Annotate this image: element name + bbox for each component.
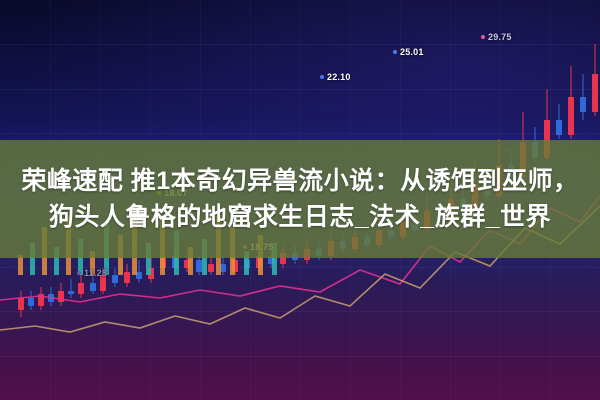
candle-body <box>592 74 598 112</box>
price-label-dot <box>393 50 397 54</box>
candle-body <box>124 272 130 283</box>
candle-body <box>28 298 34 306</box>
candle-body <box>58 291 64 302</box>
price-label-dot <box>320 75 324 79</box>
price-label: 25.01 <box>393 47 424 57</box>
price-label: 22.10 <box>320 72 351 82</box>
candle-body <box>556 120 562 135</box>
title-block: 荣峰速配 推1本奇幻异兽流小说：从诱饵到巫师， 狗头人鲁格的地窟求生日志_法术_… <box>0 140 600 258</box>
title-line-1: 荣峰速配 推1本奇幻异兽流小说：从诱饵到巫师， <box>21 165 578 197</box>
candle-wick <box>71 279 72 298</box>
candle-body <box>48 294 54 302</box>
title-line-2: 狗头人鲁格的地窟求生日志_法术_族群_世界 <box>49 201 551 233</box>
candle-body <box>38 294 44 305</box>
candle-body <box>90 283 96 291</box>
price-label-dot <box>77 271 81 275</box>
candle-body <box>112 275 118 283</box>
price-label: 11.28 <box>77 268 107 278</box>
price-label: 29.75 <box>481 32 512 42</box>
candle-body <box>568 97 574 135</box>
candle-body <box>68 291 74 295</box>
price-label-text: 11.28 <box>84 268 107 278</box>
candle-body <box>18 298 24 309</box>
candle-body <box>208 264 214 272</box>
price-label-text: 25.01 <box>400 47 424 57</box>
volume-bar <box>18 255 23 275</box>
price-label-dot <box>481 35 485 39</box>
price-label-text: 22.10 <box>327 72 351 82</box>
screenshot-stage: 22.1025.0129.7518.0718.7511.28 荣峰速配 推1本奇… <box>0 0 600 400</box>
candle-body <box>580 97 586 112</box>
price-label-text: 29.75 <box>488 32 512 42</box>
candle-body <box>78 283 84 294</box>
